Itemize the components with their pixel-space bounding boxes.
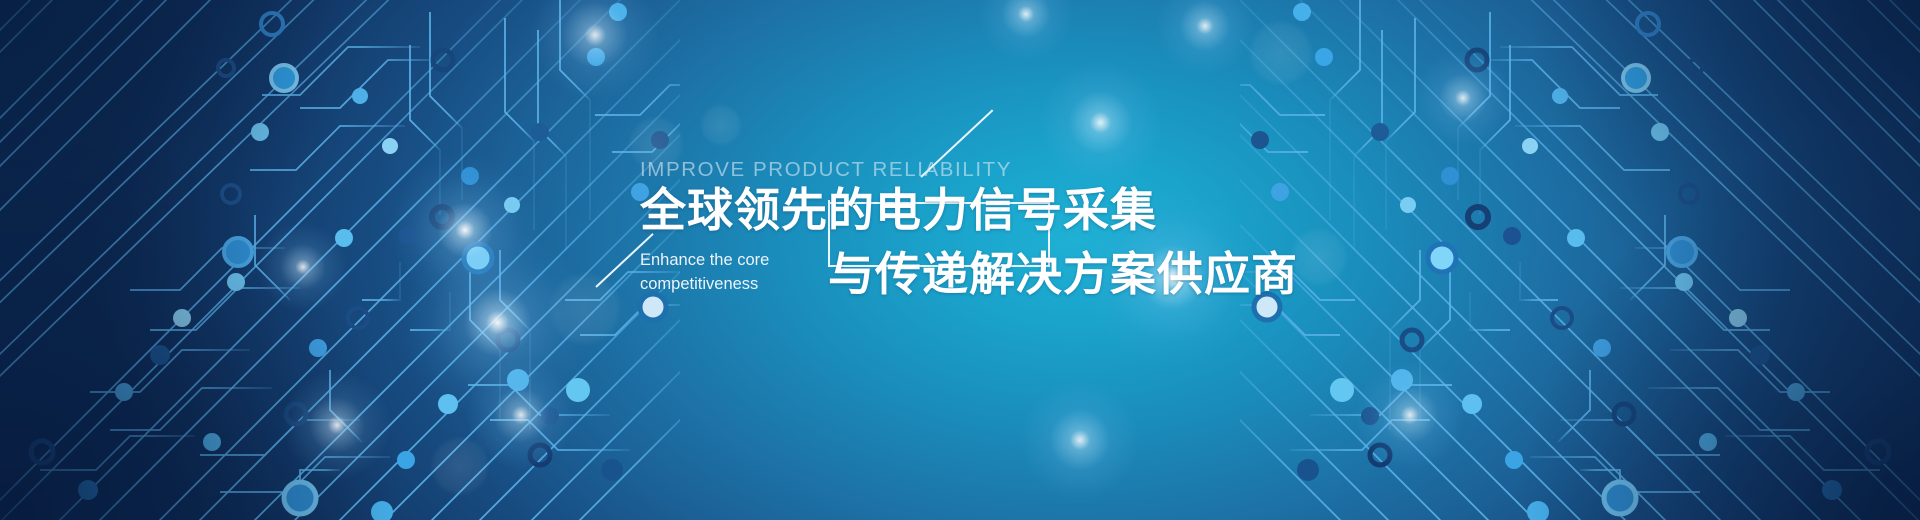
banner-text-block: IMPROVE PRODUCT RELIABILITY 全球领先的电力信号采集 … xyxy=(0,0,1920,520)
banner-tagline: IMPROVE PRODUCT RELIABILITY xyxy=(640,158,1012,182)
banner-subtext-line-2: competitiveness xyxy=(640,272,805,296)
banner-headline-line-2: 与传递解决方案供应商 xyxy=(828,244,1298,304)
banner-subtext: Enhance the core competitiveness xyxy=(640,248,805,296)
banner-subtext-line-1: Enhance the core xyxy=(640,248,805,272)
hero-banner: IMPROVE PRODUCT RELIABILITY 全球领先的电力信号采集 … xyxy=(0,0,1920,520)
banner-headline-line-1: 全球领先的电力信号采集 xyxy=(640,180,1157,240)
